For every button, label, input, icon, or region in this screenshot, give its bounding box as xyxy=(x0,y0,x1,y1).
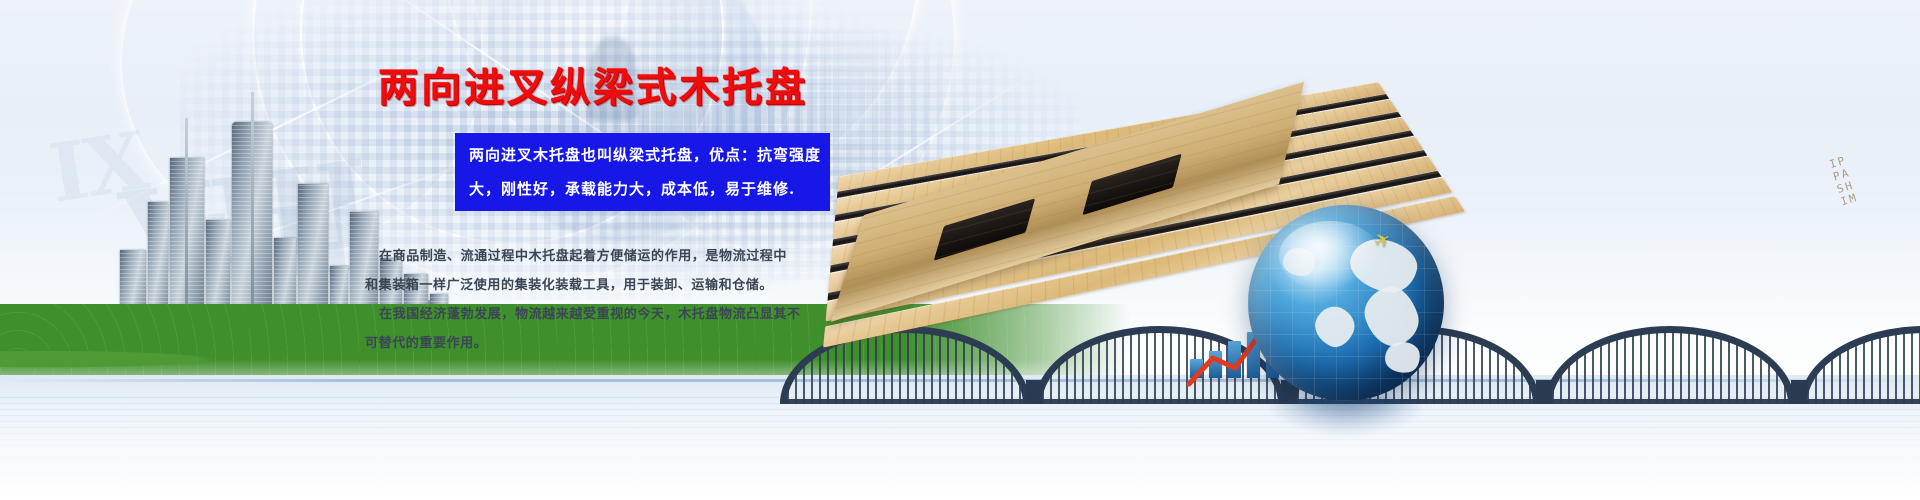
description-line: 可替代的重要作用。 xyxy=(365,329,865,358)
globe-reflection xyxy=(1262,396,1430,436)
bridge-arch xyxy=(1545,326,1795,404)
highlight-callout-box: 两向进叉木托盘也叫纵梁式托盘，优点：抗弯强度 大，刚性好，承载能力大，成本低，易… xyxy=(455,133,830,211)
highlight-line: 大，刚性好，承载能力大，成本低，易于维修. xyxy=(469,172,816,206)
promo-banner: IX VIII VII VIII XII xyxy=(0,0,1920,500)
description-paragraph: 在商品制造、流通过程中木托盘起着方便储运的作用，是物流过程中 和集装箱一样广泛使… xyxy=(365,242,865,358)
fork-entry-notch xyxy=(934,198,1035,260)
bridge-pier xyxy=(1791,380,1807,404)
globe-highlight xyxy=(1279,221,1381,292)
bridge-pier xyxy=(1536,380,1552,404)
description-line: 和集装箱一样广泛使用的集装化装载工具，用于装卸、运输和仓储。 xyxy=(365,271,865,300)
fork-entry-notch xyxy=(1082,154,1181,215)
bridge-arch xyxy=(1800,326,1920,404)
globe-graphic xyxy=(1248,205,1444,401)
description-line: 在我国经济蓬勃发展，物流越来越受重视的今天，木托盘物流凸显其不 xyxy=(365,300,865,329)
banner-title: 两向进叉纵梁式木托盘 xyxy=(378,55,808,113)
highlight-line: 两向进叉木托盘也叫纵梁式托盘，优点：抗弯强度 xyxy=(469,138,816,172)
bridge-pier xyxy=(1026,380,1042,404)
pallet-stamp-text: IP PA SH IM xyxy=(1828,154,1860,209)
description-line: 在商品制造、流通过程中木托盘起着方便储运的作用，是物流过程中 xyxy=(365,242,865,271)
